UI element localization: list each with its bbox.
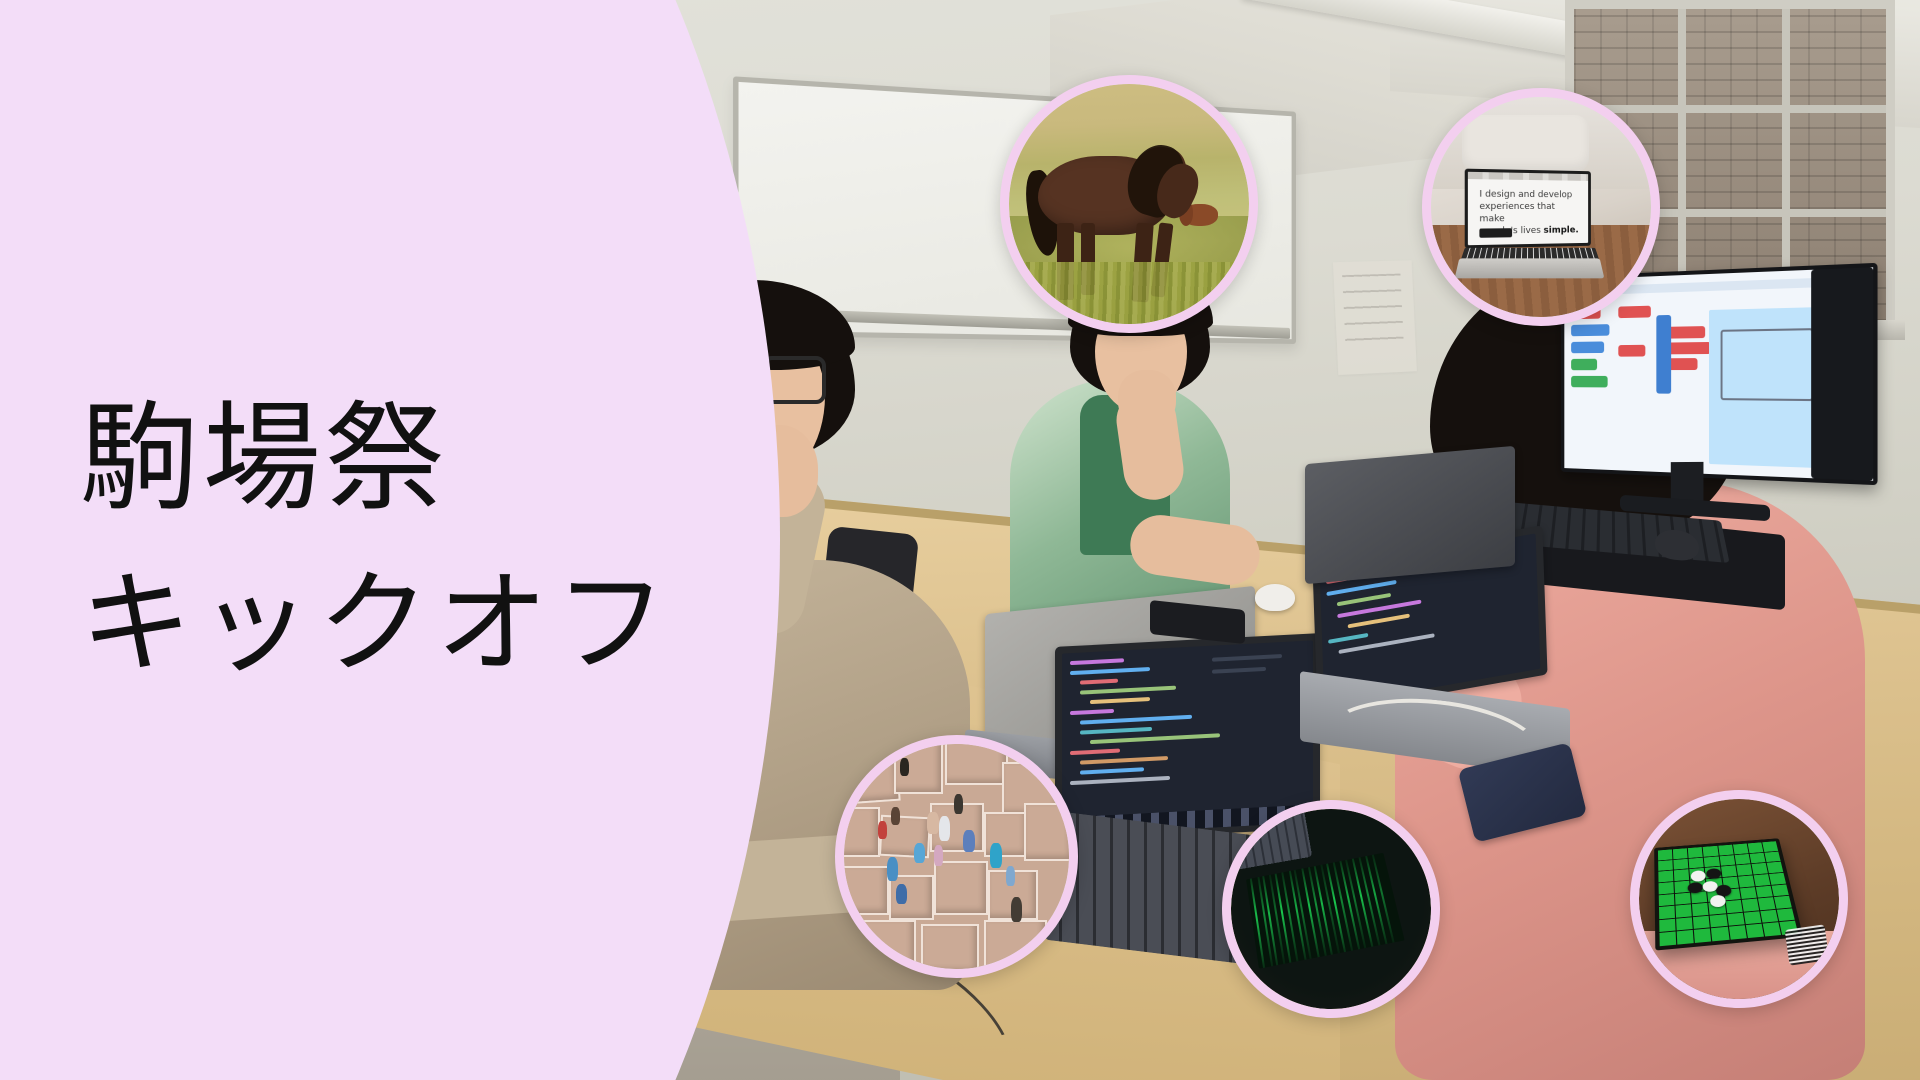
white-mouse — [1255, 584, 1295, 611]
maze-wall — [844, 751, 900, 805]
othello-board — [1654, 838, 1803, 950]
maze-visitor — [914, 843, 925, 863]
maze-visitor — [887, 857, 898, 882]
cta-button[interactable] — [1480, 227, 1512, 237]
maze-wall — [844, 866, 889, 916]
bubble-design-laptop[interactable]: I design and develop experiences that ma… — [1422, 88, 1660, 326]
monitor-side-bezel — [1811, 267, 1873, 480]
banner-canvas: 駒場祭 キックオフ 草原の馬 — [0, 0, 1920, 1080]
laptop-lid: I design and develop experiences that ma… — [1465, 168, 1591, 248]
grass-foreground — [1009, 262, 1249, 324]
othello-disc-stack — [1785, 924, 1830, 965]
maze-visitor — [927, 812, 938, 835]
person-center-hand — [1118, 370, 1176, 428]
maze-visitor — [939, 816, 950, 841]
whiteboard-note — [1333, 260, 1417, 375]
maze-visitor — [954, 794, 963, 814]
maze-visitor — [1006, 866, 1015, 886]
maze-visitor — [1011, 897, 1022, 922]
maze-visitor — [990, 843, 1001, 868]
laptop-palmrest — [1455, 259, 1605, 279]
page-title-line-1: 駒場祭 — [80, 390, 820, 527]
laptop-center-lid — [1305, 446, 1515, 584]
code-block — [1571, 324, 1609, 336]
code-block — [1618, 345, 1645, 357]
maze-visitor — [891, 807, 900, 825]
maze-wall — [934, 861, 988, 915]
quote-line-1: I design and develop — [1480, 189, 1573, 200]
code-block — [1571, 341, 1604, 353]
maze-wall — [853, 920, 916, 970]
title-block: 駒場祭 キックオフ — [0, 0, 820, 1080]
maze-photo-icon — [844, 744, 1069, 969]
quote-line-2: experiences that make — [1480, 201, 1556, 223]
bubble-matrix[interactable]: プログラミング — [1222, 800, 1440, 1018]
page-title-line-2: キックオフ — [80, 560, 820, 690]
horse-photo-icon — [1009, 84, 1249, 324]
maze-visitor — [878, 821, 887, 839]
maze-visitor — [900, 758, 909, 776]
browser-chrome — [1468, 171, 1588, 180]
maze-wall — [945, 744, 1008, 785]
cafe-sofa — [1462, 115, 1590, 172]
code-block — [1571, 359, 1597, 370]
browser-page: I design and develop experiences that ma… — [1468, 171, 1588, 244]
maze-wall — [921, 924, 980, 969]
maze-wall — [844, 807, 880, 857]
bubble-horse[interactable]: 草原の馬 — [1000, 75, 1258, 333]
maze-wall — [1024, 803, 1069, 862]
code-block — [1656, 315, 1671, 394]
maze-visitor — [896, 884, 907, 904]
othello-board-photo-icon — [1639, 799, 1839, 999]
maze-visitor — [934, 845, 943, 865]
maze-wall — [984, 920, 1047, 970]
quote-bold: simple. — [1544, 225, 1579, 235]
matrix-code-photo-icon — [1231, 809, 1431, 1009]
code-block — [1571, 376, 1608, 388]
bubble-maze[interactable]: 巨大迷路 — [835, 735, 1078, 978]
bubble-othello[interactable]: オセロ — [1630, 790, 1848, 1008]
maze-visitor — [963, 830, 974, 853]
laptop-photo-icon: I design and develop experiences that ma… — [1431, 97, 1651, 317]
maze-preview — [1721, 328, 1814, 401]
